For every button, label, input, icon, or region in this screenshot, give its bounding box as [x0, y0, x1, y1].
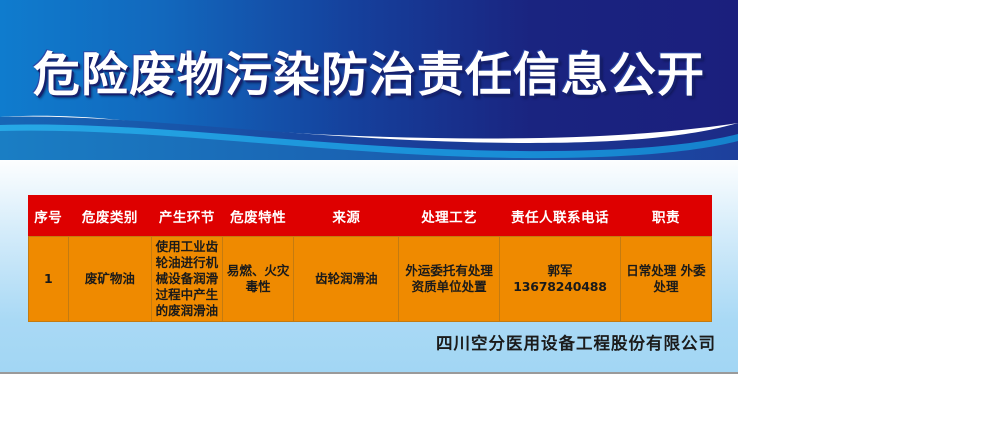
column-header-category: 危废类别 — [68, 196, 152, 237]
cell-category: 废矿物油 — [68, 237, 152, 322]
column-header-contact-phone: 责任人联系电话 — [500, 196, 621, 237]
column-header-source: 来源 — [294, 196, 399, 237]
cell-index: 1 — [29, 237, 69, 322]
hazardous-waste-table: 序号 危废类别 产生环节 危废特性 来源 处理工艺 责任人联系电话 职责 1 废… — [28, 195, 712, 322]
column-header-index: 序号 — [29, 196, 69, 237]
poster-board: 危险废物污染防治责任信息公开 序号 危废类别 产生环节 危废特性 来源 处理工艺… — [0, 0, 738, 374]
cell-generation-link: 使用工业齿轮油进行机械设备润滑过程中产生的废润滑油 — [152, 237, 223, 322]
column-header-process: 处理工艺 — [399, 196, 500, 237]
cell-duty: 日常处理 外委处理 — [620, 237, 711, 322]
contact-name: 郭军 — [503, 263, 617, 279]
column-header-duty: 职责 — [620, 196, 711, 237]
page-title: 危险废物污染防治责任信息公开 — [0, 52, 738, 99]
contact-number: 13678240488 — [503, 279, 617, 295]
cell-contact-phone: 郭军 13678240488 — [500, 237, 621, 322]
cell-process: 外运委托有处理资质单位处置 — [399, 237, 500, 322]
column-header-characteristics: 危废特性 — [222, 196, 294, 237]
column-header-generation-link: 产生环节 — [152, 196, 223, 237]
table-header-row: 序号 危废类别 产生环节 危废特性 来源 处理工艺 责任人联系电话 职责 — [29, 196, 712, 237]
company-name: 四川空分医用设备工程股份有限公司 — [0, 330, 716, 354]
cell-characteristics: 易燃、火灾毒性 — [222, 237, 294, 322]
cell-source: 齿轮润滑油 — [294, 237, 399, 322]
table-row: 1 废矿物油 使用工业齿轮油进行机械设备润滑过程中产生的废润滑油 易燃、火灾毒性… — [29, 237, 712, 322]
